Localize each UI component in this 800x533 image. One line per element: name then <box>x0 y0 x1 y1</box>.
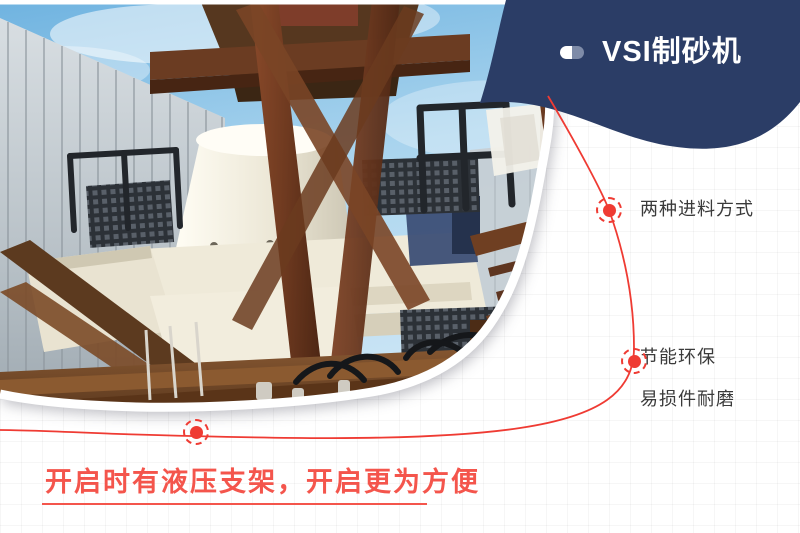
banner-root: VSI制砂机 两种进料方式 节能环保 易损件耐磨 开启时有液压支架，开启更为方便 <box>0 0 800 533</box>
caption-text: 开启时有液压支架，开启更为方便 <box>45 468 480 498</box>
red-dot-marker-icon-2 <box>621 348 647 374</box>
banner-title: VSI制砂机 <box>560 38 742 67</box>
red-dot-marker-icon-1 <box>596 197 622 223</box>
marker-core <box>190 426 203 439</box>
red-dot-marker-icon-3 <box>183 419 209 445</box>
pill-bullet-icon <box>560 46 584 59</box>
feature-label-2: 节能环保 <box>640 344 716 371</box>
marker-core <box>603 204 616 217</box>
caption-underline <box>42 503 427 505</box>
feature-label-1: 两种进料方式 <box>640 196 754 223</box>
feature-label-3: 易损件耐磨 <box>640 386 735 413</box>
banner-title-text: VSI制砂机 <box>602 38 742 67</box>
marker-core <box>628 355 641 368</box>
navy-header-shape <box>470 0 800 160</box>
